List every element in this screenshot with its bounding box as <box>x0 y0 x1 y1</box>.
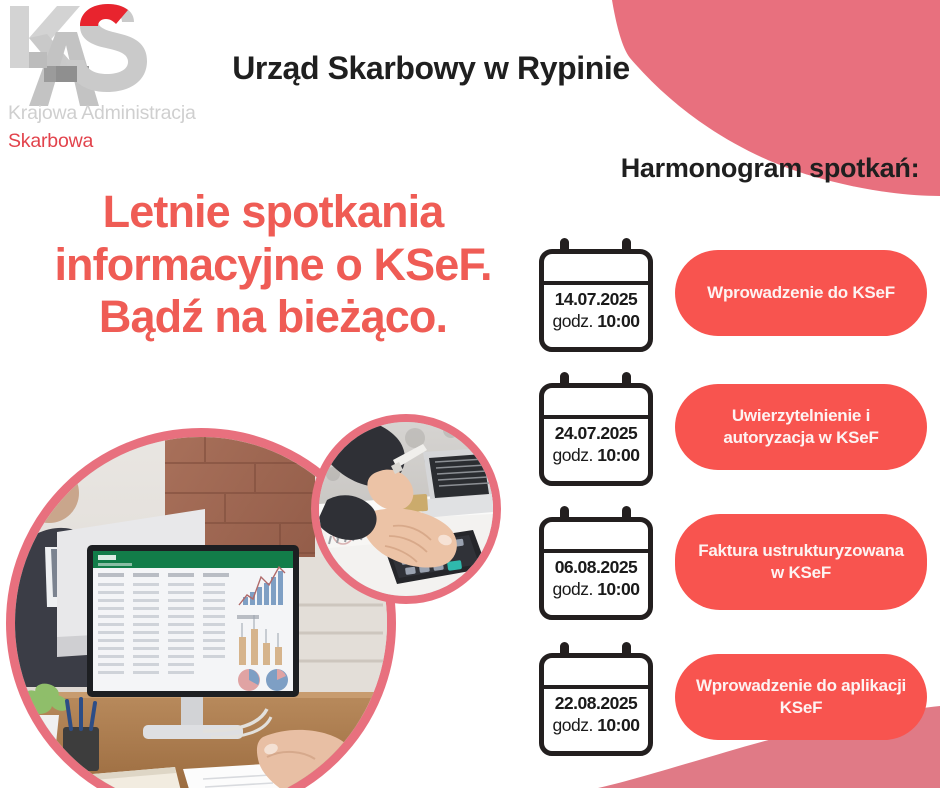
calendar-divider <box>539 415 653 419</box>
meeting-time-value: 10:00 <box>597 715 639 735</box>
meeting-topic-pill[interactable]: Uwierzytelnienie i autoryzacja w KSeF <box>675 384 927 470</box>
calendar-text: 14.07.2025 godz. 10:00 <box>539 288 653 333</box>
logo-line-2: Skarbowa <box>8 130 93 153</box>
calendar-text: 22.08.2025 godz. 10:00 <box>539 692 653 737</box>
meeting-time-value: 10:00 <box>597 311 639 331</box>
meeting-time-value: 10:00 <box>597 445 639 465</box>
calculator-hands-photo-art <box>319 422 493 596</box>
meeting-time: godz. 10:00 <box>539 578 653 600</box>
calendar-icon: 06.08.2025 godz. 10:00 <box>533 504 659 622</box>
schedule-row: 22.08.2025 godz. 10:00 Wprowadzenie do a… <box>527 636 927 770</box>
meeting-time: godz. 10:00 <box>539 310 653 332</box>
calendar-divider <box>539 685 653 689</box>
meeting-topic-pill[interactable]: Faktura ustrukturyzowana w KSeF <box>675 514 927 610</box>
office-title: Urząd Skarbowy w Rypinie <box>196 50 666 87</box>
calendar-divider <box>539 549 653 553</box>
schedule-row: 14.07.2025 godz. 10:00 Wprowadzenie do K… <box>527 232 927 366</box>
meeting-date: 06.08.2025 <box>539 556 653 578</box>
meeting-time: godz. 10:00 <box>539 714 653 736</box>
calculator-hands-photo <box>311 414 501 604</box>
main-headline: Letnie spotkania informacyjne o KSeF. Bą… <box>36 186 510 344</box>
meeting-date: 14.07.2025 <box>539 288 653 310</box>
meeting-topic-label: Wprowadzenie do aplikacji KSeF <box>691 675 911 718</box>
meeting-topic-pill[interactable]: Wprowadzenie do KSeF <box>675 250 927 336</box>
schedule-row: 06.08.2025 godz. 10:00 Faktura ustruktur… <box>527 500 927 636</box>
schedule-row: 24.07.2025 godz. 10:00 Uwierzytelnienie … <box>527 366 927 500</box>
schedule-heading: Harmonogram spotkań: <box>620 152 920 186</box>
meeting-date: 22.08.2025 <box>539 692 653 714</box>
poster-canvas: Krajowa Administracja Skarbowa Urząd Ska… <box>0 0 940 788</box>
meeting-time-prefix: godz. <box>553 579 598 599</box>
meeting-topic-label: Wprowadzenie do KSeF <box>707 282 895 304</box>
meeting-time-value: 10:00 <box>597 579 639 599</box>
kas-logo-mark-icon <box>4 2 154 106</box>
meeting-time-prefix: godz. <box>553 311 598 331</box>
meeting-topic-label: Faktura ustrukturyzowana w KSeF <box>691 540 911 583</box>
meeting-time-prefix: godz. <box>553 445 598 465</box>
calendar-icon: 22.08.2025 godz. 10:00 <box>533 640 659 758</box>
meeting-date: 24.07.2025 <box>539 422 653 444</box>
logo-line-1: Krajowa Administracja <box>8 102 196 125</box>
calendar-icon: 24.07.2025 godz. 10:00 <box>533 370 659 488</box>
calendar-divider <box>539 281 653 285</box>
schedule-list: 14.07.2025 godz. 10:00 Wprowadzenie do K… <box>527 232 927 770</box>
meeting-time-prefix: godz. <box>553 715 598 735</box>
calendar-text: 24.07.2025 godz. 10:00 <box>539 422 653 467</box>
calendar-icon: 14.07.2025 godz. 10:00 <box>533 236 659 354</box>
calendar-text: 06.08.2025 godz. 10:00 <box>539 556 653 601</box>
meeting-topic-pill[interactable]: Wprowadzenie do aplikacji KSeF <box>675 654 927 740</box>
kas-logo: Krajowa Administracja Skarbowa <box>4 2 214 154</box>
meeting-time: godz. 10:00 <box>539 444 653 466</box>
meeting-topic-label: Uwierzytelnienie i autoryzacja w KSeF <box>691 405 911 448</box>
